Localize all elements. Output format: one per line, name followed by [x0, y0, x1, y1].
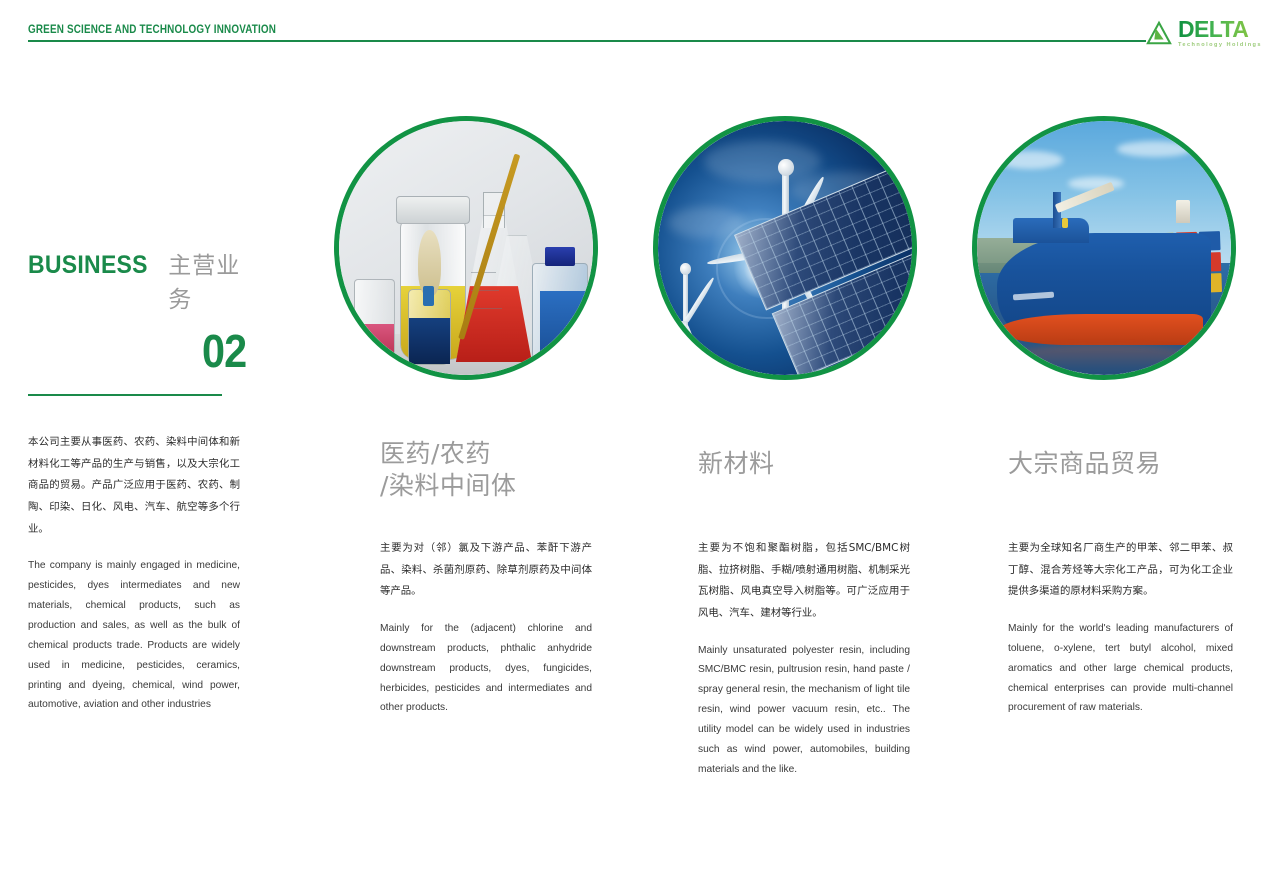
- column-3-body: 主要为全球知名厂商生产的甲苯、邻二甲苯、叔丁醇、混合芳烃等大宗化工产品，可为化工…: [1008, 538, 1233, 718]
- column-1-body-english: Mainly for the (adjacent) chlorine and d…: [380, 619, 592, 718]
- turbine-hub-icon: [778, 159, 793, 176]
- column-3-body-chinese: 主要为全球知名厂商生产的甲苯、邻二甲苯、叔丁醇、混合芳烃等大宗化工产品，可为化工…: [1008, 538, 1233, 603]
- column-1-heading-line1: 医药/农药: [380, 438, 592, 470]
- section-title-row: BUSINESS 主营业务: [28, 246, 248, 314]
- circle-image-3: [972, 116, 1236, 380]
- column-1-heading-line2: /染料中间体: [380, 470, 592, 502]
- section-intro-block: 本公司主要从事医药、农药、染料中间体和新材料化工等产品的生产与销售，以及大宗化工…: [28, 432, 240, 715]
- circle-image-1: [334, 116, 598, 380]
- delta-logo: DELTA Technology Holdings: [1145, 16, 1262, 50]
- section-title-chinese: 主营业务: [168, 246, 248, 314]
- header-divider-rule: [28, 40, 1146, 42]
- column-2-body-english: Mainly unsaturated polyester resin, incl…: [698, 641, 910, 780]
- column-2-body: 主要为不饱和聚酯树脂，包括SMC/BMC树脂、拉挤树脂、手糊/喷射通用树脂、机制…: [698, 538, 910, 780]
- container-cargo-ship-photo: [972, 116, 1236, 380]
- section-title-block: BUSINESS 主营业务 02: [28, 246, 248, 396]
- column-1-body-chinese: 主要为对（邻）氯及下游产品、苯酐下游产品、染料、杀菌剂原药、除草剂原药及中间体等…: [380, 538, 592, 603]
- column-3: 大宗商品贸易: [1008, 448, 1233, 480]
- header-kicker-text: GREEN SCIENCE AND TECHNOLOGY INNOVATION: [28, 24, 276, 36]
- column-3-heading-line1: 大宗商品贸易: [1008, 448, 1233, 480]
- wind-turbine-solar-panel-photo: [653, 116, 917, 380]
- ship-bulb-bow: [1000, 314, 1203, 344]
- logo-brand-name: DELTA: [1178, 18, 1262, 41]
- logo-wordmark: DELTA Technology Holdings: [1178, 18, 1262, 49]
- section-underline-rule: [28, 394, 222, 396]
- section-intro-chinese: 本公司主要从事医药、农药、染料中间体和新材料化工等产品的生产与销售，以及大宗化工…: [28, 432, 240, 540]
- logo-tagline: Technology Holdings: [1178, 43, 1262, 49]
- column-2-body-chinese: 主要为不饱和聚酯树脂，包括SMC/BMC树脂、拉挤树脂、手糊/喷射通用树脂、机制…: [698, 538, 910, 625]
- column-2-heading: 新材料: [698, 448, 910, 480]
- column-2: 新材料: [698, 448, 910, 480]
- blue-cap-bottle-icon: [532, 263, 588, 360]
- laboratory-glassware-photo: [334, 116, 598, 380]
- small-jar-icon: [354, 279, 395, 360]
- column-3-heading: 大宗商品贸易: [1008, 448, 1233, 480]
- crane-hook-icon: [1062, 218, 1068, 228]
- column-1-body: 主要为对（邻）氯及下游产品、苯酐下游产品、染料、杀菌剂原药、除草剂原药及中间体等…: [380, 538, 592, 718]
- page-header: GREEN SCIENCE AND TECHNOLOGY INNOVATION …: [0, 0, 1280, 62]
- section-number: 02: [50, 328, 248, 374]
- ship-funnel-icon: [1176, 200, 1190, 223]
- section-intro-english: The company is mainly engaged in medicin…: [28, 556, 240, 715]
- column-1: 医药/农药 /染料中间体: [380, 438, 592, 502]
- brochure-page: GREEN SCIENCE AND TECHNOLOGY INNOVATION …: [0, 0, 1280, 879]
- column-1-heading: 医药/农药 /染料中间体: [380, 438, 592, 502]
- column-2-heading-line1: 新材料: [698, 448, 910, 480]
- circle-image-2: [653, 116, 917, 380]
- delta-triangle-icon: [1145, 20, 1173, 46]
- column-3-body-english: Mainly for the world's leading manufactu…: [1008, 619, 1233, 718]
- ship-superstructure: [1013, 218, 1089, 243]
- section-title-english: BUSINESS: [28, 251, 148, 280]
